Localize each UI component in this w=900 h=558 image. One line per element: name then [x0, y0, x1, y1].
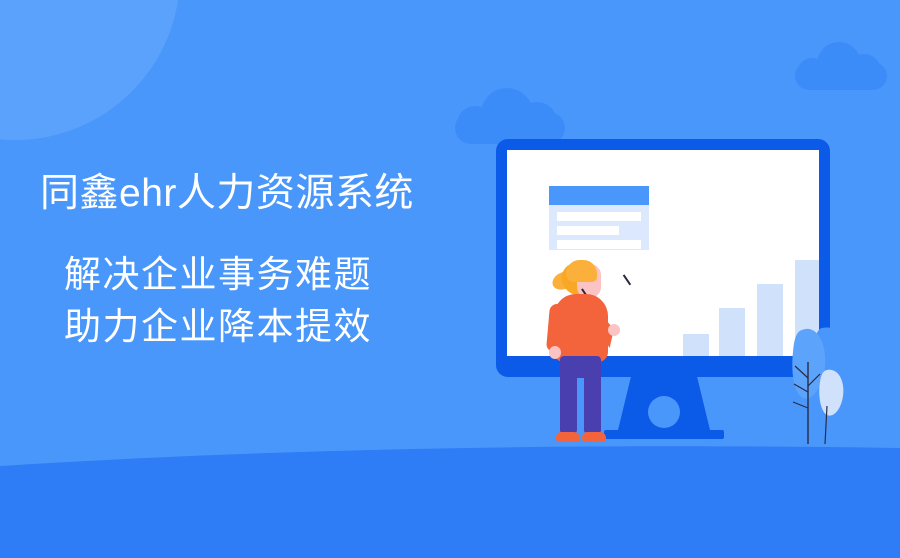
plant-leaf-small — [819, 370, 843, 416]
female-presenter — [548, 258, 648, 444]
decorative-plant — [775, 322, 860, 446]
pointer-stick-tip — [623, 275, 631, 286]
leg-left — [560, 358, 577, 434]
hand-left — [549, 346, 561, 359]
subtitle-group: 解决企业事务难题 助力企业降本提效 — [40, 249, 460, 354]
shoe-right — [582, 432, 606, 442]
page-title: 同鑫ehr人力资源系统 — [40, 170, 460, 219]
marketing-copy: 同鑫ehr人力资源系统 解决企业事务难题 助力企业降本提效 — [40, 170, 460, 354]
chart-bar — [683, 334, 709, 356]
poster-canvas: 同鑫ehr人力资源系统 解决企业事务难题 助力企业降本提效 — [0, 0, 900, 558]
subtitle-line-1: 解决企业事务难题 — [64, 249, 460, 302]
shoe-left — [556, 432, 580, 442]
leg-right — [584, 358, 601, 434]
chart-bar — [719, 308, 745, 356]
hand-right — [608, 324, 620, 336]
hair-front — [566, 260, 597, 282]
subtitle-line-2: 助力企业降本提效 — [64, 301, 460, 354]
monitor-stand-knob — [648, 396, 680, 428]
